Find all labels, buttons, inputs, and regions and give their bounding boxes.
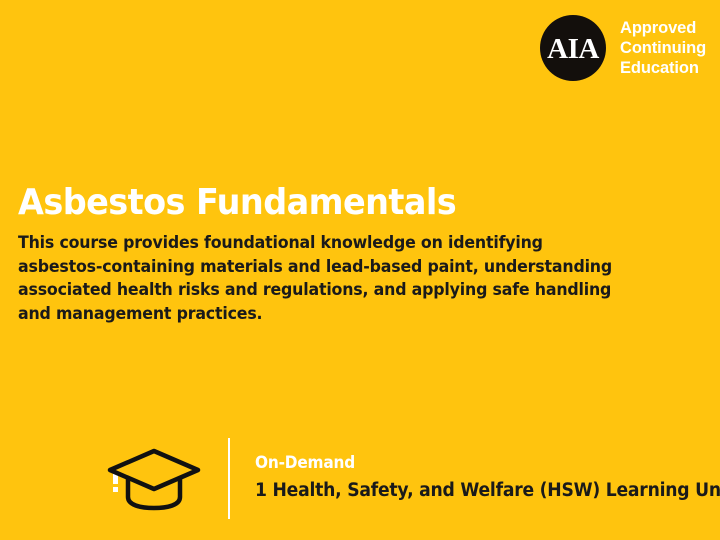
- aia-seal-label: AIA: [547, 35, 599, 64]
- description-line-4: and management practices.: [18, 303, 632, 327]
- aia-accreditation-badge: AIA Approved Continuing Education: [540, 15, 706, 81]
- description-line-2: asbestos-containing materials and lead-b…: [18, 256, 632, 280]
- accreditation-line-1: Approved: [620, 18, 706, 38]
- aia-seal-icon: AIA: [540, 15, 606, 81]
- accreditation-line-3: Education: [620, 58, 706, 78]
- accreditation-line-2: Continuing: [620, 38, 706, 58]
- course-title: Asbestos Fundamentals: [18, 181, 456, 225]
- description-line-1: This course provides foundational knowle…: [18, 232, 632, 256]
- graduation-cap-icon: [106, 445, 202, 511]
- course-credit-footer: On-Demand 1 Health, Safety, and Welfare …: [106, 437, 720, 519]
- description-line-3: associated health risks and regulations,…: [18, 279, 632, 303]
- footer-divider: [228, 438, 230, 519]
- accreditation-text: Approved Continuing Education: [620, 18, 706, 78]
- delivery-format-label: On-Demand: [255, 451, 720, 475]
- course-description: This course provides foundational knowle…: [18, 232, 632, 326]
- learning-unit-label: 1 Health, Safety, and Welfare (HSW) Lear…: [255, 477, 720, 505]
- footer-text-block: On-Demand 1 Health, Safety, and Welfare …: [255, 451, 720, 505]
- course-slide: AIA Approved Continuing Education Asbest…: [0, 0, 720, 540]
